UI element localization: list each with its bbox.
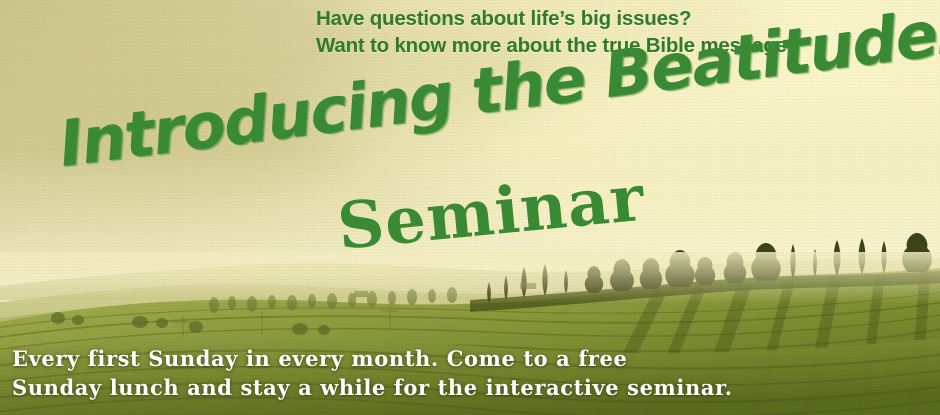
footer-line-1: Every first Sunday in every month. Come … — [12, 344, 733, 373]
promotional-banner: Have questions about life’s big issues? … — [0, 0, 940, 415]
footer-details: Every first Sunday in every month. Come … — [12, 344, 733, 402]
footer-line-2: Sunday lunch and stay a while for the in… — [12, 373, 733, 402]
